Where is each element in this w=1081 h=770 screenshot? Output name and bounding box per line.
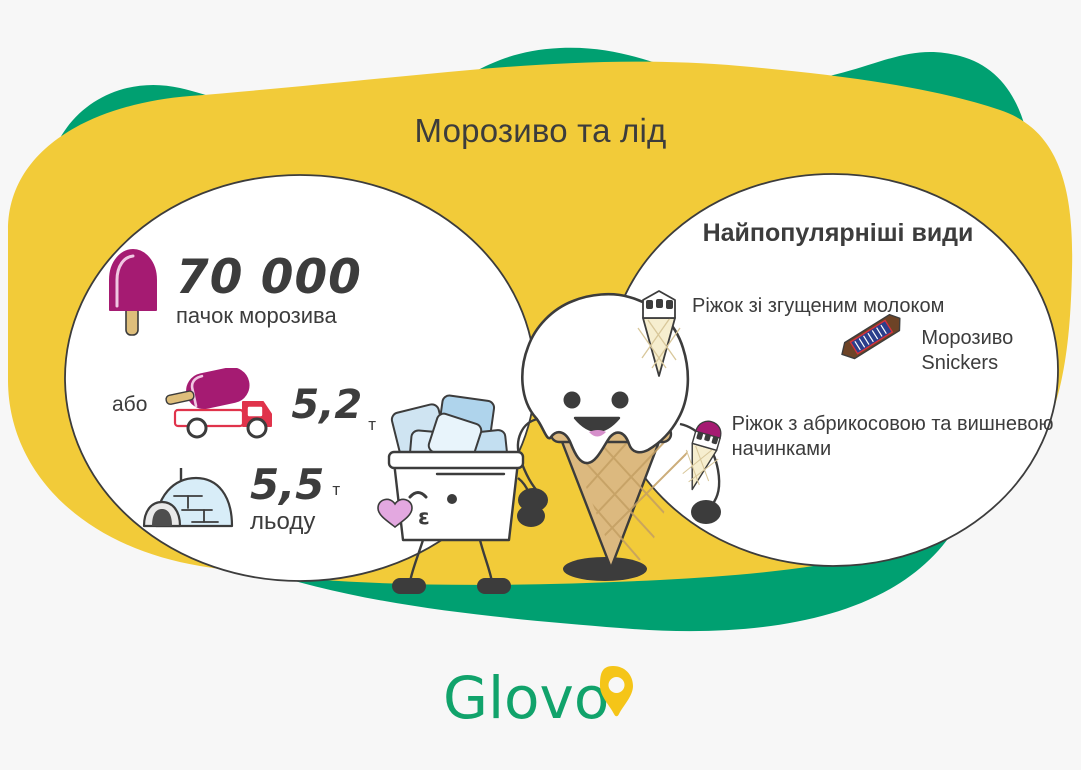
- tonnage-unit: т: [368, 415, 376, 435]
- ice-unit: т: [332, 480, 340, 500]
- cone-eye-left: [564, 392, 581, 409]
- list-item: Ріжок з абрикосовою та вишневою начинкам…: [682, 410, 1070, 502]
- stat-truck: або 5,2 т: [112, 368, 376, 442]
- glovo-logo-mark: Glovo: [443, 660, 639, 736]
- or-label: або: [112, 393, 147, 417]
- glovo-logo: Glovo: [0, 660, 1081, 741]
- packs-label: пачок морозива: [176, 304, 337, 328]
- list-item: Морозиво Snickers: [838, 304, 1070, 384]
- stat-ice: 5,5 т льоду: [140, 464, 340, 536]
- stat-packs: 70 000 пачок морозива: [102, 246, 362, 338]
- igloo-icon: [140, 464, 236, 536]
- tonnage-value: 5,2: [291, 382, 362, 428]
- infographic-canvas: ε Морозиво та лід 70 000 пачок мор: [0, 0, 1081, 770]
- ice-label: льоду: [250, 508, 340, 536]
- popular-types-panel: Найпопулярніші види Ріжок зі згущеним мо…: [600, 200, 1070, 530]
- packs-value: 70 000: [176, 256, 362, 301]
- chocolate-bar-icon: [838, 304, 911, 384]
- glovo-wordmark: Glovo: [443, 664, 609, 732]
- delivery-truck-icon: [165, 368, 283, 442]
- ice-cream-cone-berry-icon: [682, 410, 722, 502]
- left-stats-panel: 70 000 пачок морозива або 5,2 т: [62, 168, 552, 588]
- ice-value: 5,5: [250, 464, 324, 506]
- page-title: Морозиво та лід: [0, 112, 1081, 150]
- ice-cream-cone-icon: [636, 288, 682, 380]
- popular-types-heading: Найпопулярніші види: [688, 218, 988, 249]
- list-item-label: Ріжок з абрикосовою та вишневою начинкам…: [732, 412, 1070, 462]
- popsicle-icon: [102, 246, 164, 338]
- list-item-label: Морозиво Snickers: [921, 326, 1070, 376]
